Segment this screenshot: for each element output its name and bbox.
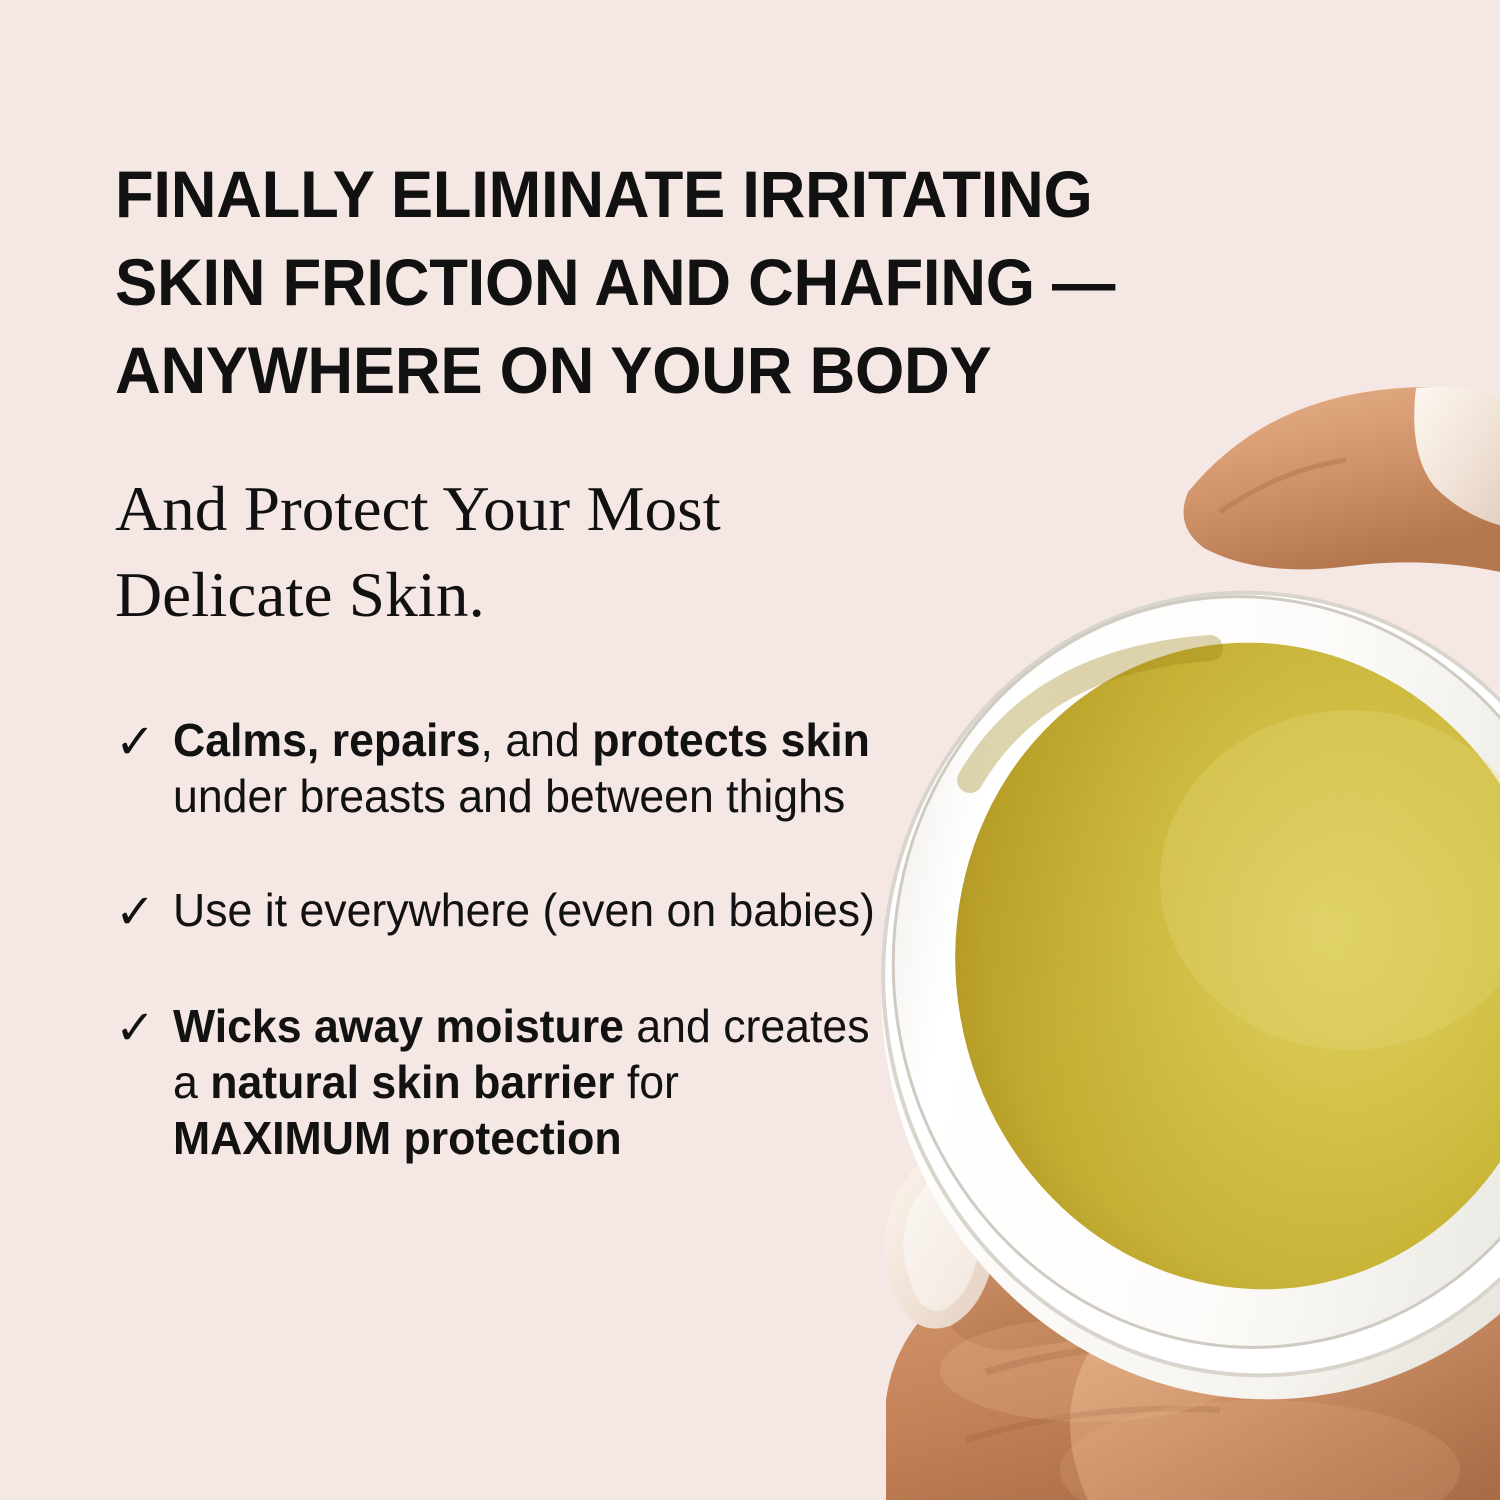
balm-highlight xyxy=(1160,710,1500,1050)
jar-rim-ring-inner xyxy=(834,541,1500,1404)
check-icon: ✓ xyxy=(115,714,173,770)
benefit-text: Use it everywhere (even on babies) xyxy=(173,882,883,938)
hand xyxy=(885,387,1500,1500)
balm-surface xyxy=(904,595,1500,1337)
thumbnail xyxy=(1414,387,1500,528)
benefit-text-strong: MAXIMUM protection xyxy=(173,1112,622,1164)
benefit-text-plain: for xyxy=(614,1056,678,1108)
nail-highlight xyxy=(903,1160,981,1311)
check-icon: ✓ xyxy=(115,884,173,940)
balm-shadow xyxy=(904,595,1500,1337)
index-finger xyxy=(926,1144,1260,1350)
jar-outer-wall xyxy=(818,540,1500,1459)
benefit-text-strong: protects skin xyxy=(592,714,870,766)
thumb-crease xyxy=(1220,460,1346,512)
palm-shade xyxy=(1070,1250,1500,1500)
skin-sheen-1 xyxy=(940,1318,1240,1422)
benefit-text-strong: Calms, repairs xyxy=(173,714,481,766)
jar-rim-ring-outer xyxy=(822,534,1500,1434)
jar-rim-inner-edge xyxy=(834,541,1500,1404)
balm-jar xyxy=(818,534,1500,1460)
benefit-text-plain: under breasts and between thighs xyxy=(173,770,845,822)
page-title: FINALLY ELIMINATE IRRITATING SKIN FRICTI… xyxy=(115,150,1181,414)
palm-mass xyxy=(886,1244,1500,1500)
benefit-item: ✓Calms, repairs, and protects skin under… xyxy=(115,712,905,824)
benefit-text: Wicks away moisture and creates a natura… xyxy=(173,998,883,1166)
product-marketing-image: FINALLY ELIMINATE IRRITATING SKIN FRICTI… xyxy=(0,0,1500,1500)
benefit-text-plain: , and xyxy=(481,714,593,766)
copy-block: FINALLY ELIMINATE IRRITATING SKIN FRICTI… xyxy=(115,150,875,1166)
finger-crease-2 xyxy=(966,1409,1220,1440)
thumb xyxy=(1184,387,1500,574)
benefit-item: ✓Wicks away moisture and creates a natur… xyxy=(115,998,905,1166)
balm-inner-shadow xyxy=(970,648,1210,780)
benefit-text-strong: Wicks away moisture xyxy=(173,1000,624,1052)
jar-rim-edge xyxy=(822,534,1500,1434)
subheading: And Protect Your Most Delicate Skin. xyxy=(115,466,890,638)
skin-sheen-2 xyxy=(1060,1400,1460,1500)
benefit-text-strong: natural skin barrier xyxy=(210,1056,614,1108)
benefit-item: ✓Use it everywhere (even on babies) xyxy=(115,882,905,940)
benefit-text: Calms, repairs, and protects skin under … xyxy=(173,712,883,824)
finger-crease-1 xyxy=(986,1345,1210,1372)
benefit-text-plain: Use it everywhere (even on babies) xyxy=(173,884,875,936)
benefits-list: ✓Calms, repairs, and protects skin under… xyxy=(115,712,905,1166)
check-icon: ✓ xyxy=(115,1000,173,1056)
